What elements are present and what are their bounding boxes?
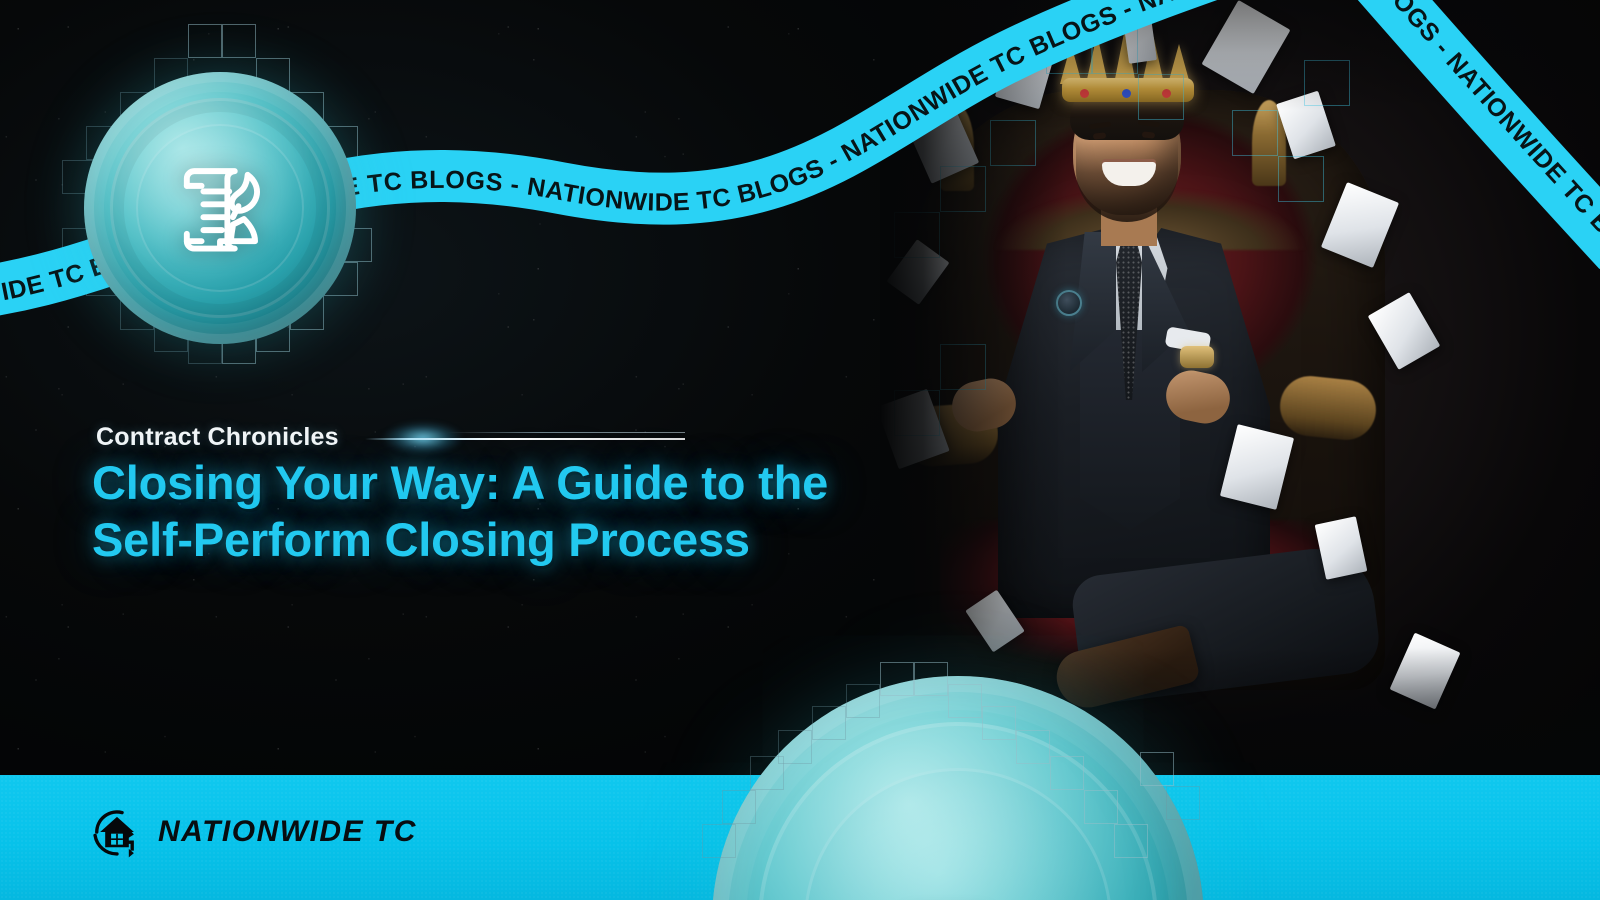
contract-scroll-quill-icon [161, 149, 279, 267]
title-line-1: Closing Your Way: A Guide to the [92, 455, 932, 512]
footer-logo[interactable]: NATIONWIDE TC [90, 805, 417, 859]
hero-photo [880, 0, 1600, 790]
eyebrow-divider [365, 430, 685, 446]
title-line-2: Self-Perform Closing Process [92, 512, 932, 569]
contract-scroll-quill-icon [863, 886, 1053, 900]
contract-badge-top [84, 72, 356, 344]
eyebrow-label: Contract Chronicles [96, 423, 339, 452]
blog-banner-graphic: NATIONWIDE TC BLOGS - NATIONWIDE TC BLOG… [0, 0, 1600, 900]
photo-edge-fade [880, 0, 1600, 790]
divider-line-secondary [447, 432, 685, 433]
divider-line-primary [365, 438, 685, 440]
logo-text: NATIONWIDE TC [158, 815, 417, 849]
eyebrow-row: Contract Chronicles [96, 423, 685, 452]
house-arrow-logo-icon [90, 805, 144, 859]
page-title: Closing Your Way: A Guide to the Self-Pe… [92, 455, 932, 569]
